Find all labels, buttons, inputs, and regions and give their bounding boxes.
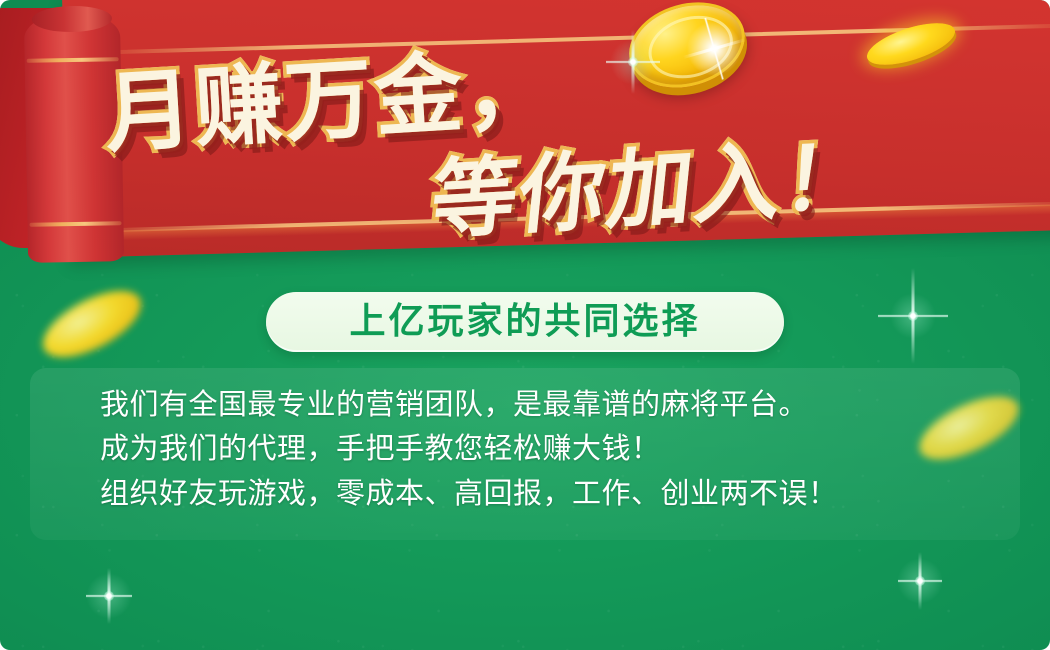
- description-line: 成为我们的代理，手把手教您轻松赚大钱！: [100, 432, 838, 464]
- description-text-group: 我们有全国最专业的营销团队，是最靠谱的麻将平台。 成为我们的代理，手把手教您轻松…: [100, 388, 838, 509]
- tagline-badge-text: 上亿玩家的共同选择: [349, 304, 700, 340]
- description-line: 组织好友玩游戏，零成本、高回报，工作、创业两不误！: [100, 477, 838, 509]
- ribbon-curl-stripe-top: [27, 57, 119, 63]
- ribbon-banner: [0, 0, 1050, 280]
- sparkle-star-bottom-left-icon: [86, 568, 132, 624]
- gold-coin-blurred-left-icon: [33, 277, 151, 370]
- tagline-badge: 上亿玩家的共同选择: [266, 292, 784, 352]
- ribbon-curl: [24, 11, 124, 263]
- ribbon-curl-stripe-bottom: [29, 221, 121, 227]
- description-panel: 我们有全国最专业的营销团队，是最靠谱的麻将平台。 成为我们的代理，手把手教您轻松…: [30, 368, 1020, 540]
- description-line: 我们有全国最专业的营销团队，是最靠谱的麻将平台。: [100, 388, 838, 420]
- sparkle-star-right-icon: [878, 268, 948, 364]
- promo-poster: 月赚万金， 等你加入！ 上亿玩家的共同选择 我们有全国最专业的营销团队，是最靠谱…: [0, 0, 1050, 650]
- sparkle-star-bottom-right-icon: [898, 552, 942, 610]
